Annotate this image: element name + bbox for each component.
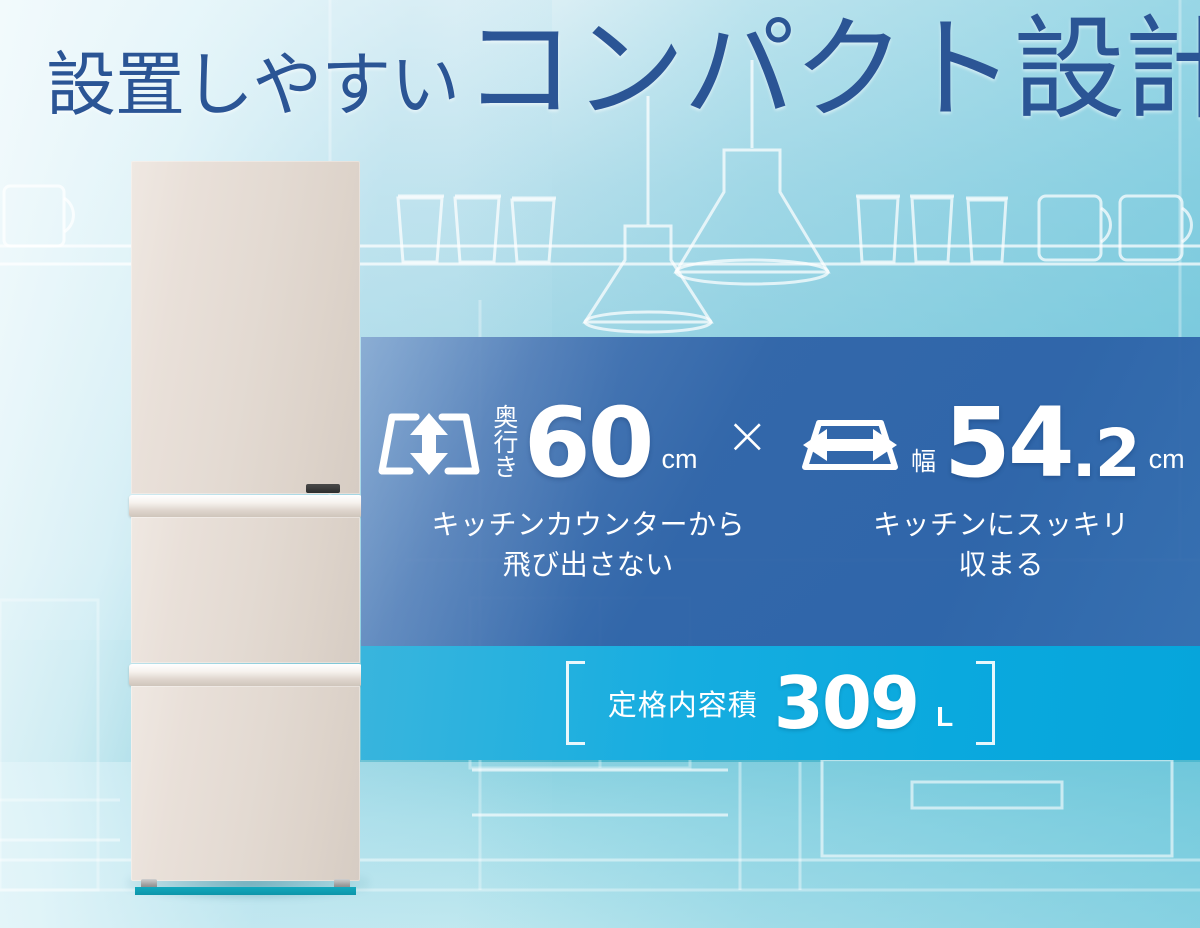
spec-width-caption: キッチンにスッキリ 収まる <box>873 505 1130 585</box>
spec-width-caption-line2: 収まる <box>873 545 1130 585</box>
spec-depth-unit: cm <box>661 444 697 475</box>
width-arrow-icon <box>797 407 903 481</box>
spec-width-unit: cm <box>1149 444 1185 475</box>
promo-banner: 設置しやすい コンパクト設計 奥行き 60 cm × <box>0 0 1200 928</box>
capacity-label: 定格内容積 <box>608 682 758 724</box>
spec-width-caption-line1: キッチンにスッキリ <box>873 505 1130 545</box>
refrigerator <box>131 161 360 889</box>
fridge-handle-top <box>129 495 362 517</box>
fridge-control-panel-icon <box>306 484 340 493</box>
spec-width-value-dec: .2 <box>1072 415 1139 492</box>
spec-captions: キッチンカウンターから 飛び出さない キッチンにスッキリ 収まる <box>361 505 1200 585</box>
spec-row: 奥行き 60 cm × 幅 54.2 cm <box>361 389 1200 497</box>
spec-depth: 奥行き 60 cm <box>376 399 697 487</box>
spec-width: 幅 54.2 cm <box>797 399 1185 487</box>
spec-width-label: 幅 <box>911 450 936 476</box>
headline-lead: 設置しやすい <box>46 50 459 126</box>
capacity-value: 309 <box>774 667 918 739</box>
headline: 設置しやすい コンパクト設計 <box>46 14 1200 126</box>
fridge-drawer-middle <box>131 517 360 663</box>
spec-depth-value: 60 <box>524 399 652 487</box>
fridge-door-top <box>131 161 360 494</box>
capacity-bracket: 定格内容積 309 L <box>566 661 995 745</box>
capacity-band-inner: 定格内容積 309 L <box>361 646 1200 760</box>
spec-separator-icon: × <box>725 406 769 466</box>
spec-depth-label: 奥行き <box>490 404 516 479</box>
capacity-band: 定格内容積 309 L <box>361 646 1200 760</box>
spec-width-value: 54.2 <box>944 399 1139 487</box>
fridge-handle-middle <box>129 664 362 686</box>
headline-main: コンパクト設計 <box>463 14 1200 126</box>
fridge-drawer-bottom <box>131 686 360 881</box>
depth-arrow-icon <box>376 407 482 481</box>
spec-width-value-int: 54 <box>944 387 1072 499</box>
spec-panel: 奥行き 60 cm × 幅 54.2 cm <box>361 337 1200 646</box>
spec-depth-caption-line2: 飛び出さない <box>431 545 745 585</box>
capacity-unit: L <box>936 701 953 733</box>
spec-depth-caption: キッチンカウンターから 飛び出さない <box>431 505 745 585</box>
fridge-base <box>135 887 356 895</box>
spec-depth-caption-line1: キッチンカウンターから <box>431 505 745 545</box>
